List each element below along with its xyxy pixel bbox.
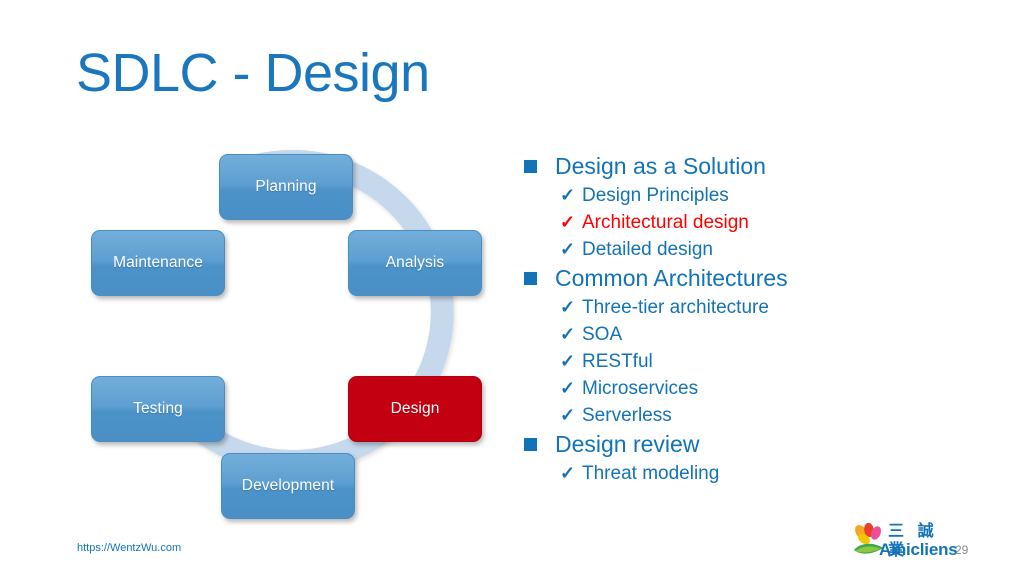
square-bullet-icon [524, 438, 537, 451]
cycle-node-label: Planning [255, 178, 316, 196]
check-icon: ✓ [560, 236, 582, 263]
cycle-node-label: Maintenance [113, 254, 203, 272]
bullet-item-label: Detailed design [582, 236, 713, 263]
cycle-node-design[interactable]: Design [348, 376, 482, 442]
sdlc-cycle-diagram: Planning Analysis Design Development Tes… [70, 136, 510, 536]
content-bullet-list: Design as a Solution ✓ Design Principles… [524, 152, 964, 488]
bullet-item-label: Three-tier architecture [582, 294, 769, 321]
bullet-heading: Design review [524, 430, 964, 459]
bullet-item: ✓ Threat modeling [560, 460, 964, 487]
bullet-item-label: Microservices [582, 375, 698, 402]
bullet-item-label: Serverless [582, 402, 672, 429]
page-title: SDLC - Design [76, 44, 430, 103]
footer-website-link[interactable]: https://WentzWu.com [77, 542, 181, 554]
bullet-item: ✓ Detailed design [560, 236, 964, 263]
bullet-item: ✓ Serverless [560, 402, 964, 429]
bullet-item-label: Architectural design [582, 209, 749, 236]
company-logo: 三 誠 業 Amicliens [852, 521, 964, 561]
check-icon: ✓ [560, 209, 582, 236]
bullet-item: ✓ RESTful [560, 348, 964, 375]
square-bullet-icon [524, 160, 537, 173]
bullet-group: Design review ✓ Threat modeling [524, 430, 964, 487]
cycle-node-maintenance[interactable]: Maintenance [91, 230, 225, 296]
check-icon: ✓ [560, 294, 582, 321]
cycle-node-analysis[interactable]: Analysis [348, 230, 482, 296]
check-icon: ✓ [560, 375, 582, 402]
bullet-item: ✓ Microservices [560, 375, 964, 402]
bullet-item-label: SOA [582, 321, 622, 348]
bullet-item-label: RESTful [582, 348, 653, 375]
bullet-heading-label: Common Architectures [555, 264, 788, 293]
cycle-node-label: Analysis [386, 254, 445, 272]
check-icon: ✓ [560, 321, 582, 348]
bullet-item-highlighted: ✓ Architectural design [560, 209, 964, 236]
bullet-group: Common Architectures ✓ Three-tier archit… [524, 264, 964, 429]
bullet-item-label: Design Principles [582, 182, 729, 209]
check-icon: ✓ [560, 460, 582, 487]
bullet-item: ✓ SOA [560, 321, 964, 348]
bullet-heading: Design as a Solution [524, 152, 964, 181]
check-icon: ✓ [560, 182, 582, 209]
cycle-node-label: Testing [133, 400, 183, 418]
square-bullet-icon [524, 272, 537, 285]
cycle-node-planning[interactable]: Planning [219, 154, 353, 220]
page-number: 29 [955, 543, 968, 557]
cycle-node-label: Design [391, 400, 440, 418]
bullet-group: Design as a Solution ✓ Design Principles… [524, 152, 964, 263]
bullet-heading: Common Architectures [524, 264, 964, 293]
cycle-node-testing[interactable]: Testing [91, 376, 225, 442]
bullet-heading-label: Design review [555, 430, 699, 459]
check-icon: ✓ [560, 402, 582, 429]
bullet-item-label: Threat modeling [582, 460, 719, 487]
check-icon: ✓ [560, 348, 582, 375]
logo-wordmark: Amicliens [879, 540, 958, 559]
bullet-item: ✓ Three-tier architecture [560, 294, 964, 321]
bullet-item: ✓ Design Principles [560, 182, 964, 209]
cycle-node-development[interactable]: Development [221, 453, 355, 519]
bullet-heading-label: Design as a Solution [555, 152, 766, 181]
cycle-node-label: Development [242, 477, 334, 495]
